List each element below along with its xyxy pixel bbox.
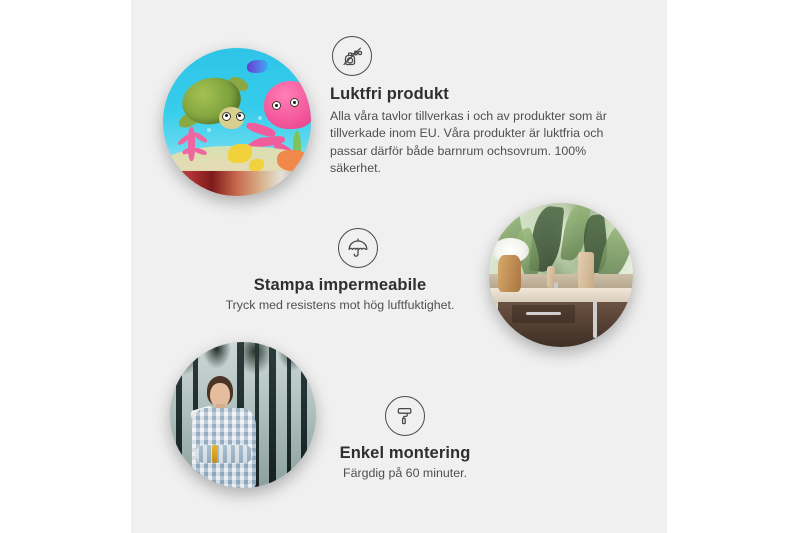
feature-description: Alla våra tavlor tillverkas i och av pro…	[330, 108, 626, 178]
feature-description: Tryck med resistens mot hög luftfuktighe…	[205, 297, 475, 314]
product-feature-panel: Luktfri produkt Alla våra tavlor tillver…	[0, 0, 800, 533]
photo-forest	[170, 342, 316, 488]
umbrella-icon	[338, 228, 378, 268]
feature-description: Färgdig på 60 minuter.	[310, 465, 500, 482]
feature-easy-mounting: Enkel montering Färgdig på 60 minuter.	[310, 396, 500, 482]
photo-bathroom	[489, 203, 633, 347]
feature-title: Luktfri produkt	[330, 85, 626, 104]
feature-title: Stampa impermeabile	[205, 276, 475, 295]
feature-odourless: Luktfri produkt Alla våra tavlor tillver…	[330, 36, 626, 178]
paint-roller-icon	[385, 396, 425, 436]
photo-underwater	[163, 48, 311, 196]
feature-waterproof: Stampa impermeabile Tryck med resistens …	[205, 228, 475, 314]
feature-title: Enkel montering	[310, 444, 500, 463]
no-fragrance-icon	[332, 36, 372, 76]
